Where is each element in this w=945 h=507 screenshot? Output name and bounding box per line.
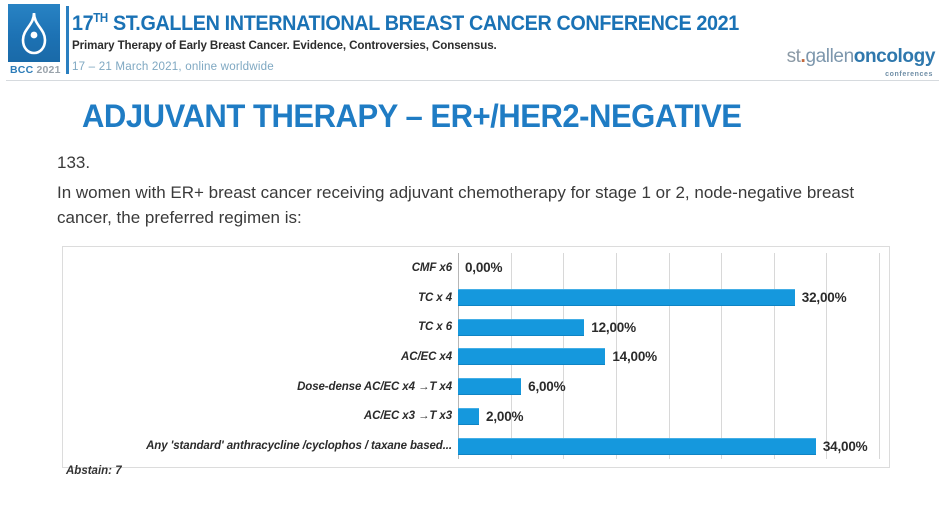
bar-value-label: 12,00% <box>591 320 636 335</box>
st-gallen-oncology-logo: st.gallenoncology conferences <box>787 46 935 76</box>
bar <box>458 438 816 455</box>
question-number: 133. <box>57 153 90 173</box>
abstain-count: Abstain: 7 <box>66 465 122 477</box>
bcc-logo-caption: BCC 2021 <box>10 64 61 76</box>
bar-value-label: 2,00% <box>486 409 523 424</box>
chart-row: TC x 612,00% <box>458 312 877 342</box>
conference-title-ordinal: TH <box>93 11 108 25</box>
logo-right-st: st <box>787 46 801 67</box>
chart-row: AC/EC x414,00% <box>458 342 877 372</box>
bar-value-label: 32,00% <box>802 290 847 305</box>
bar <box>458 408 479 425</box>
conference-title: 17TH ST.GALLEN INTERNATIONAL BREAST CANC… <box>72 11 739 36</box>
conference-title-number: 17 <box>72 11 93 35</box>
logo-right-gallen: gallen <box>805 46 853 67</box>
chart-row: TC x 432,00% <box>458 283 877 313</box>
slide-root: BCC 2021 17TH ST.GALLEN INTERNATIONAL BR… <box>0 0 945 507</box>
category-label: AC/EC x4 <box>401 351 452 363</box>
page-title: ADJUVANT THERAPY – ER+/HER2-NEGATIVE <box>82 98 858 135</box>
bar-value-label: 0,00% <box>465 260 502 275</box>
category-label: AC/EC x3 →T x3 <box>364 410 452 422</box>
chart-row: CMF x60,00% <box>458 253 877 283</box>
bar <box>458 319 584 336</box>
header-divider <box>6 80 939 81</box>
category-label: Any 'standard' anthracycline /cyclophos … <box>146 440 452 452</box>
bcc-logo-caption-year: 2021 <box>33 64 60 76</box>
bcc-logo-caption-bold: BCC <box>10 64 33 76</box>
logo-right-oncology: oncology <box>854 46 935 67</box>
chart-row: Dose-dense AC/EC x4 →T x46,00% <box>458 372 877 402</box>
gridline-40 <box>879 253 880 459</box>
conference-title-rest: ST.GALLEN INTERNATIONAL BREAST CANCER CO… <box>108 11 739 35</box>
question-text: In women with ER+ breast cancer receivin… <box>57 180 857 230</box>
category-label: CMF x6 <box>412 262 452 274</box>
chart-bar-rows: CMF x60,00%TC x 432,00%TC x 612,00%AC/EC… <box>458 253 877 459</box>
conference-subtitle: Primary Therapy of Early Breast Cancer. … <box>72 38 497 52</box>
chart-row: AC/EC x3 →T x32,00% <box>458 402 877 432</box>
bar <box>458 378 521 395</box>
poll-results-chart: CMF x60,00%TC x 432,00%TC x 612,00%AC/EC… <box>62 246 890 468</box>
category-label: Dose-dense AC/EC x4 →T x4 <box>297 381 452 393</box>
conference-header: BCC 2021 17TH ST.GALLEN INTERNATIONAL BR… <box>0 0 945 84</box>
bar <box>458 348 605 365</box>
header-accent-bar <box>66 6 69 74</box>
chart-row: Any 'standard' anthracycline /cyclophos … <box>458 431 877 461</box>
bar <box>458 289 795 306</box>
logo-right-conferences: conferences <box>885 71 933 78</box>
bcc-logo: BCC 2021 <box>8 4 60 80</box>
category-label: TC x 4 <box>418 292 452 304</box>
conference-dates: 17 – 21 March 2021, online worldwide <box>72 59 274 73</box>
bar-value-label: 34,00% <box>823 439 868 454</box>
bar-value-label: 14,00% <box>612 349 657 364</box>
breast-droplet-icon <box>19 11 49 55</box>
bar-value-label: 6,00% <box>528 379 565 394</box>
category-label: TC x 6 <box>418 321 452 333</box>
chart-plot-area: CMF x60,00%TC x 432,00%TC x 612,00%AC/EC… <box>458 253 877 459</box>
